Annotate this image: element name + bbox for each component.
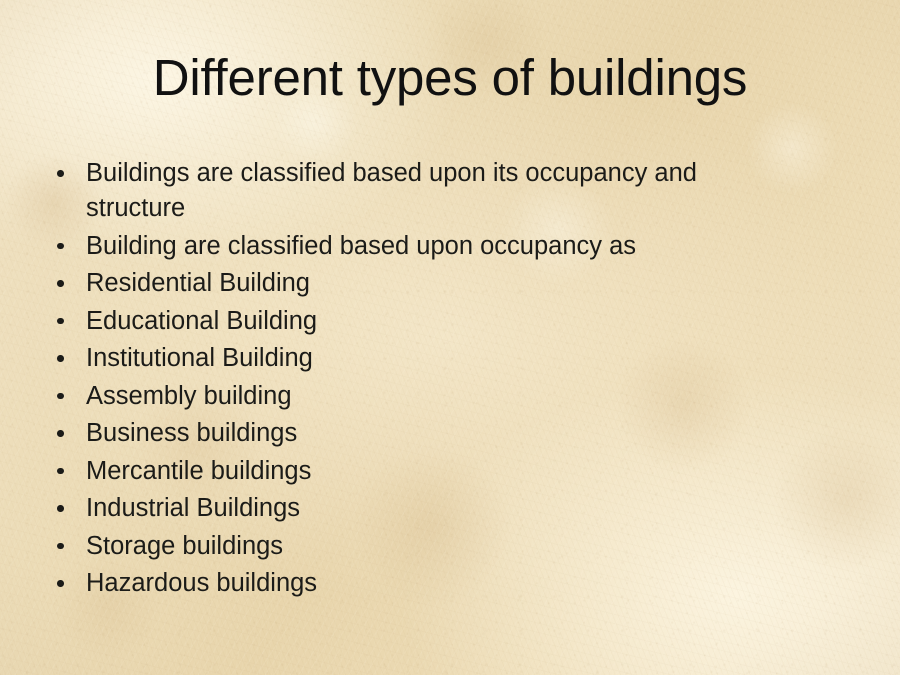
list-item-label: Mercantile buildings: [86, 457, 311, 485]
presentation-slide: Different types of buildings Buildings a…: [0, 0, 900, 675]
bullet-point-icon: [57, 280, 64, 287]
bullet-list: Buildings are classified based upon its …: [50, 156, 810, 604]
bullet-point-icon: [57, 505, 64, 512]
list-item-label: Buildings are classified based upon its …: [86, 159, 697, 222]
list-item-label: Business buildings: [86, 419, 297, 447]
bullet-point-icon: [57, 430, 64, 437]
list-item-label: Building are classified based upon occup…: [86, 232, 636, 260]
list-item: Mercantile buildings: [50, 454, 810, 489]
bullet-point-icon: [57, 580, 64, 587]
list-item: Hazardous buildings: [50, 566, 810, 601]
list-item-label: Assembly building: [86, 382, 292, 410]
list-item: Building are classified based upon occup…: [50, 229, 810, 264]
list-item: Storage buildings: [50, 529, 810, 564]
slide-content: Different types of buildings Buildings a…: [0, 0, 900, 675]
bullet-point-icon: [57, 468, 64, 475]
bullet-point-icon: [57, 170, 64, 177]
list-item: Industrial Buildings: [50, 491, 810, 526]
bullet-point-icon: [57, 355, 64, 362]
slide-title: Different types of buildings: [0, 47, 900, 109]
list-item: Educational Building: [50, 304, 810, 339]
list-item: Residential Building: [50, 266, 810, 301]
bullet-point-icon: [57, 393, 64, 400]
list-item: Business buildings: [50, 416, 810, 451]
bullet-point-icon: [57, 243, 64, 250]
list-item-label: Educational Building: [86, 307, 317, 335]
list-item-label: Industrial Buildings: [86, 494, 300, 522]
bullet-point-icon: [57, 318, 64, 325]
bullet-point-icon: [57, 543, 64, 550]
list-item: Assembly building: [50, 379, 810, 414]
list-item: Buildings are classified based upon its …: [50, 156, 800, 226]
list-item-label: Residential Building: [86, 269, 310, 297]
list-item-label: Storage buildings: [86, 532, 283, 560]
list-item-label: Institutional Building: [86, 344, 313, 372]
list-item: Institutional Building: [50, 341, 810, 376]
list-item-label: Hazardous buildings: [86, 569, 317, 597]
